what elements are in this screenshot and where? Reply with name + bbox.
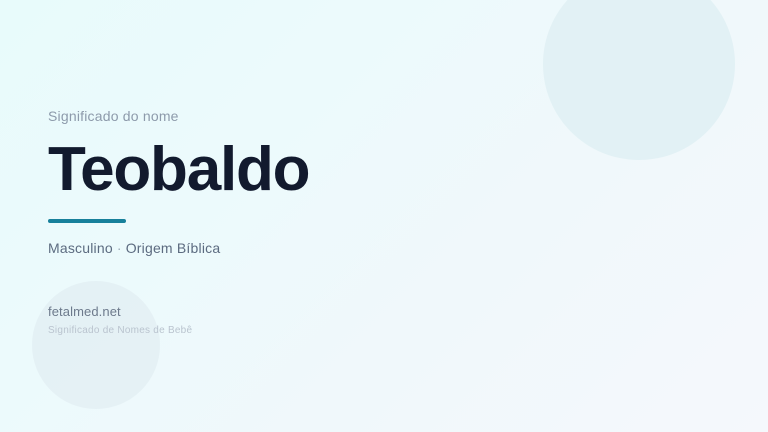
gender-label: Masculino bbox=[48, 240, 113, 256]
origin-label: Origem Bíblica bbox=[126, 240, 221, 256]
eyebrow-label: Significado do nome bbox=[48, 108, 688, 125]
meta-separator: · bbox=[113, 240, 126, 256]
card-content: Significado do nome Teobaldo Masculino·O… bbox=[48, 108, 688, 256]
accent-underline bbox=[48, 219, 126, 223]
name-meaning-card: Significado do nome Teobaldo Masculino·O… bbox=[0, 0, 768, 432]
page-title: Teobaldo bbox=[48, 139, 688, 201]
brand-site-name: fetalmed.net bbox=[48, 304, 192, 320]
brand-tagline: Significado de Nomes de Bebê bbox=[48, 325, 192, 338]
decorative-circle-bottom-left bbox=[32, 281, 160, 409]
name-attributes: Masculino·Origem Bíblica bbox=[48, 240, 688, 256]
brand-block: fetalmed.net Significado de Nomes de Beb… bbox=[48, 304, 192, 338]
